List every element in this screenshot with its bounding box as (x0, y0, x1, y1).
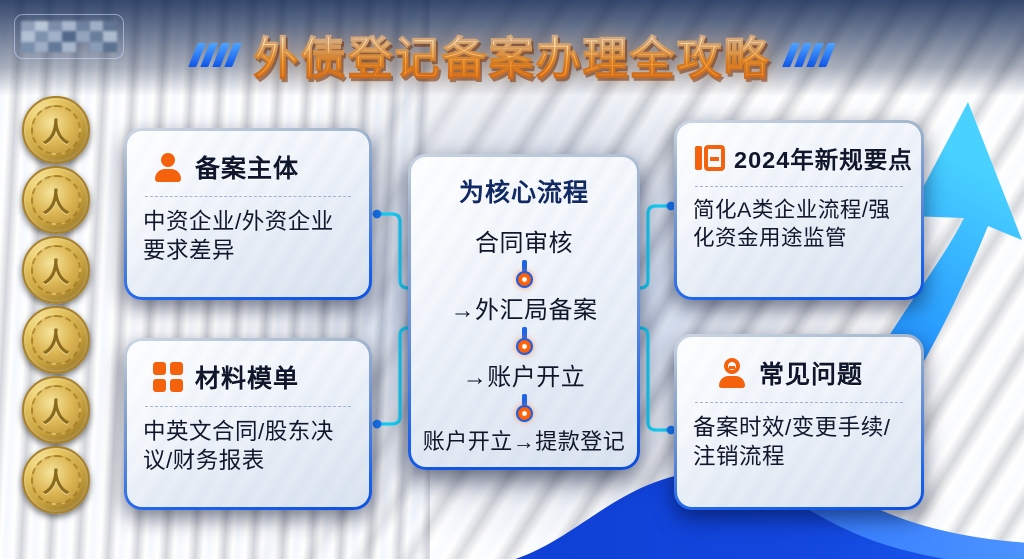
slash-left-icon (193, 43, 237, 67)
page-title: 外债登记备案办理全攻略 (253, 22, 770, 87)
step-connector (516, 258, 533, 290)
card-header: 2024年新规要点 (693, 137, 905, 177)
step-dot-icon (516, 338, 533, 355)
coin: 人 (22, 446, 90, 514)
coin-glyph: 人 (24, 378, 88, 442)
card-material[interactable]: 材料模单 中英文合同/股东决议/财务报表 (124, 338, 372, 510)
card-body-text: 中资企业/外资企业要求差异 (143, 207, 353, 266)
title-row: 外债登记备案办理全攻略 (0, 22, 1024, 87)
process-step: 账户开立→提款登记 (423, 424, 626, 456)
card-body-text: 简化A类企业流程/强化资金用途监管 (693, 197, 905, 253)
coin: 人 (22, 306, 90, 374)
card-title: 常见问题 (759, 355, 863, 391)
coin-glyph: 人 (24, 448, 88, 512)
coin-glyph: 人 (24, 168, 88, 232)
card-divider (695, 402, 903, 403)
step-dot-icon (516, 405, 533, 422)
card-title: 材料模单 (195, 359, 299, 395)
coin: 人 (22, 166, 90, 234)
coin-glyph: 人 (24, 238, 88, 302)
process-steps: 合同审核 →外汇局备案 →账户开立 账户开立→提款登记 (421, 223, 627, 456)
infographic-canvas: 人 人 人 人 人 人 外债登记备案办理全攻略 (0, 0, 1024, 559)
card-core-process[interactable]: 为核心流程 合同审核 →外汇局备案 →账户开立 账户开立→提款登记 (408, 154, 640, 470)
process-step: 合同审核 (475, 223, 573, 258)
document-card-icon (695, 143, 725, 173)
card-rules[interactable]: 2024年新规要点 简化A类企业流程/强化资金用途监管 (674, 120, 924, 300)
coin: 人 (22, 96, 90, 164)
coin: 人 (22, 376, 90, 444)
card-header: 常见问题 (693, 351, 905, 393)
user-question-icon (717, 358, 747, 388)
process-step: →账户开立 (463, 357, 586, 392)
card-faq[interactable]: 常见问题 备案时效/变更手续/注销流程 (674, 334, 924, 510)
process-step: →外汇局备案 (451, 290, 598, 325)
card-divider (145, 196, 351, 197)
slash-right-icon (787, 43, 831, 67)
coin-glyph: 人 (24, 98, 88, 162)
card-header: 材料模单 (143, 355, 353, 397)
grid-squares-icon (153, 362, 183, 392)
card-divider (695, 186, 903, 187)
person-icon (153, 152, 183, 182)
card-title: 2024年新规要点 (734, 141, 913, 175)
card-divider (145, 406, 351, 407)
step-dot-icon (516, 271, 533, 288)
step-connector (516, 325, 533, 357)
process-title: 为核心流程 (459, 173, 589, 209)
step-connector (516, 392, 533, 424)
coin-glyph: 人 (24, 308, 88, 372)
card-body-text: 中英文合同/股东决议/财务报表 (143, 417, 353, 476)
coin: 人 (22, 236, 90, 304)
card-header: 备案主体 (143, 145, 353, 187)
card-title: 备案主体 (195, 149, 299, 185)
card-body-text: 备案时效/变更手续/注销流程 (693, 413, 905, 472)
card-subject[interactable]: 备案主体 中资企业/外资企业要求差异 (124, 128, 372, 300)
